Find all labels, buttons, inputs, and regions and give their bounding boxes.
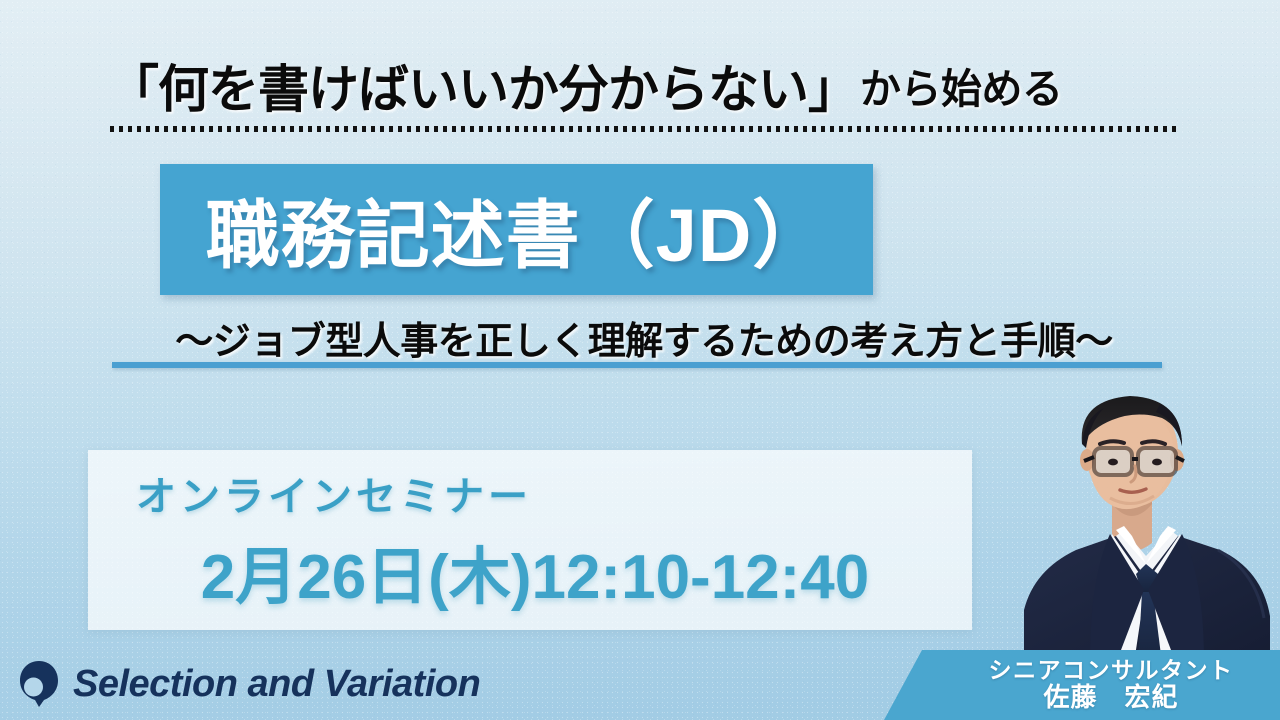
presenter-role-label: シニアコンサルタント xyxy=(989,657,1234,683)
presenter-portrait-photo xyxy=(1012,378,1280,663)
seminar-banner: 「何を書けばいいか分からない」 から始める 職務記述書（JD） 〜ジョブ型人事を… xyxy=(0,0,1280,720)
headline-tail-text: から始める xyxy=(858,55,1063,115)
main-title-band: 職務記述書（JD） xyxy=(160,164,873,295)
presenter-name-label: 佐藤 宏紀 xyxy=(1043,683,1178,713)
subtitle-text: 〜ジョブ型人事を正しく理解するための考え方と手順〜 xyxy=(175,310,1113,365)
brand-name-text: Selection and Variation xyxy=(73,663,480,706)
event-datetime-text: 2月26日(木)12:10-12:40 xyxy=(124,526,972,616)
circle-comma-logo-icon xyxy=(18,660,60,708)
headline-quoted-text: 「何を書けばいいか分からない」 xyxy=(108,48,858,122)
headline-dotted-rule xyxy=(110,126,1178,132)
subtitle-underline-rule xyxy=(112,362,1162,368)
subtitle: 〜ジョブ型人事を正しく理解するための考え方と手順〜 xyxy=(110,313,1178,361)
headline: 「何を書けばいいか分からない」 から始める xyxy=(108,50,1180,120)
main-title-text: 職務記述書（JD） xyxy=(206,176,828,283)
presenter-caption-band: シニアコンサルタント 佐藤 宏紀 xyxy=(884,650,1280,720)
seminar-kind-label: オンラインセミナー xyxy=(124,464,972,522)
event-info-panel: オンラインセミナー 2月26日(木)12:10-12:40 xyxy=(88,450,972,630)
brand-footer: Selection and Variation xyxy=(18,660,480,708)
